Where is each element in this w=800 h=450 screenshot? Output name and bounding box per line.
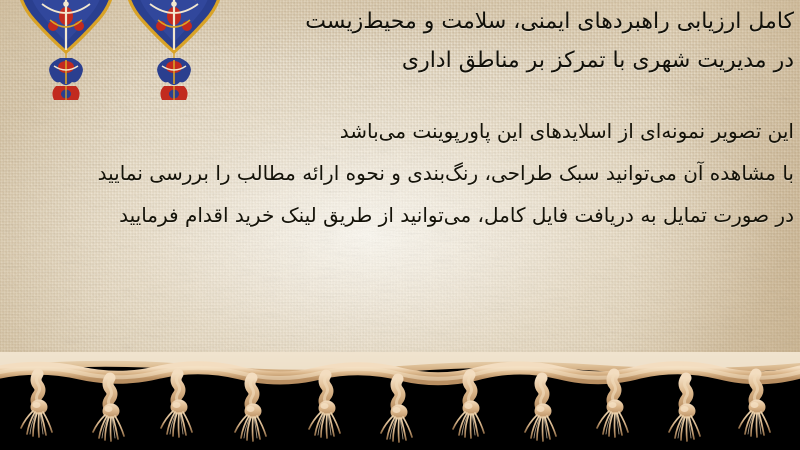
body-line-1: این تصویر نمونه‌ای از اسلایدهای این پاور… bbox=[6, 110, 794, 152]
slide-text-layer: کامل ارزیابی راهبردهای ایمنی، سلامت و مح… bbox=[0, 0, 800, 378]
body-line-3: در صورت تمایل به دریافت فایل کامل، می‌تو… bbox=[6, 194, 794, 236]
title-line-1: کامل ارزیابی راهبردهای ایمنی، سلامت و مح… bbox=[6, 2, 794, 41]
slide-title: کامل ارزیابی راهبردهای ایمنی، سلامت و مح… bbox=[6, 2, 794, 80]
presentation-slide: کامل ارزیابی راهبردهای ایمنی، سلامت و مح… bbox=[0, 0, 800, 450]
slide-body: این تصویر نمونه‌ای از اسلایدهای این پاور… bbox=[6, 110, 794, 236]
body-line-2: با مشاهده آن می‌توانید سبک طراحی، رنگ‌بن… bbox=[6, 152, 794, 194]
title-line-2: در مدیریت شهری با تمرکز بر مناطق اداری bbox=[6, 41, 794, 80]
